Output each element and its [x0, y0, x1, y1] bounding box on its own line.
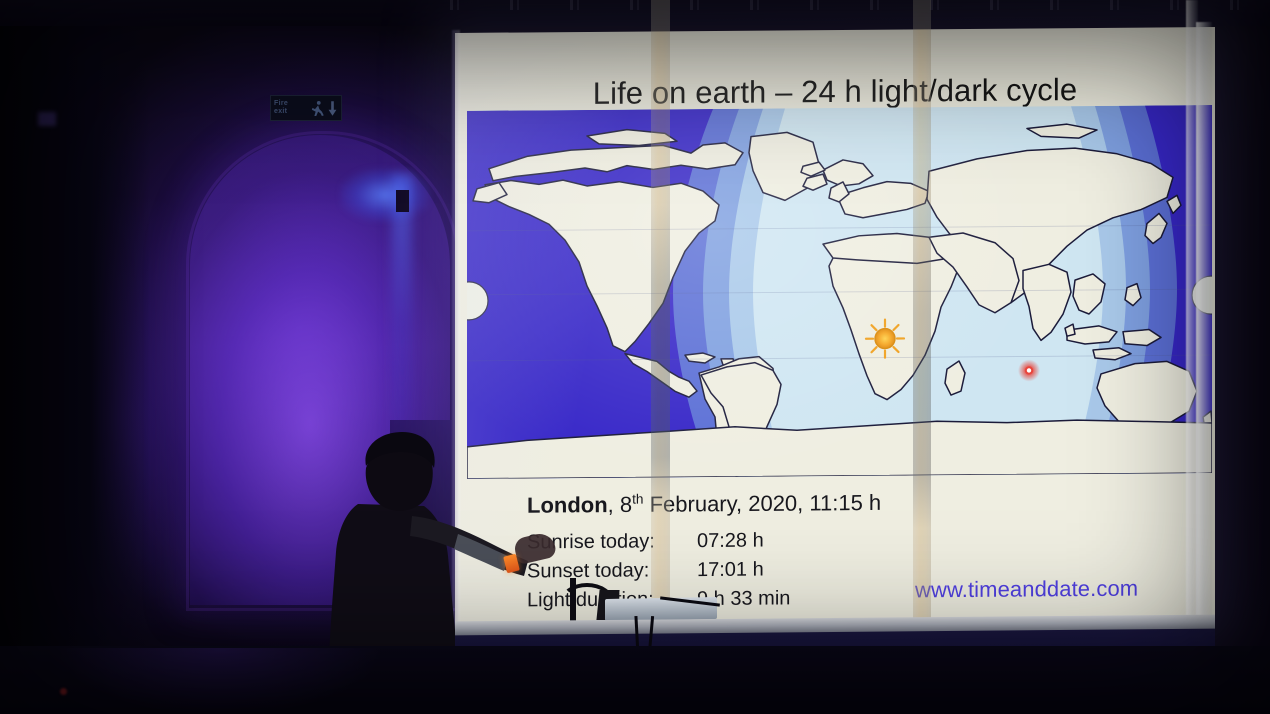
presentation-photo: Fire exit Life on earth – 24 h light/dar…: [0, 0, 1270, 714]
microphone-stand: [570, 578, 576, 622]
sun-icon: [866, 319, 904, 357]
fire-exit-line2: exit: [274, 108, 288, 116]
city-line-part2: February, 2020, 11:15 h: [643, 490, 881, 517]
fire-exit-label: Fire exit: [274, 100, 288, 116]
screen-right-edge: [1196, 22, 1212, 634]
slide: Life on earth – 24 h light/dark cycle: [455, 27, 1215, 631]
world-map-svg: [467, 105, 1212, 479]
sunrise-value: 07:28 h: [697, 530, 764, 554]
source-url: www.timeanddate.com: [915, 576, 1138, 604]
wall-speaker-box: [396, 190, 409, 212]
moon-red-dot-icon: [1018, 359, 1040, 381]
fire-exit-line1: Fire: [274, 100, 288, 108]
running-person-icon: [310, 100, 325, 117]
fire-exit-sign: Fire exit: [270, 95, 342, 121]
left-wall: [0, 0, 150, 714]
day-night-world-map: [467, 105, 1212, 479]
down-arrow-icon: [327, 100, 338, 117]
fire-exit-pictograms: [310, 100, 338, 117]
city-line-part1: , 8: [608, 492, 632, 517]
wall-light: [38, 112, 56, 126]
sunset-value: 17:01 h: [697, 559, 764, 583]
indicator-light: [60, 688, 67, 695]
city-datetime-line: London, 8th February, 2020, 11:15 h: [527, 487, 1167, 518]
blue-spotlight: [340, 168, 430, 222]
date-ordinal-suffix: th: [632, 492, 643, 507]
sunrise-row: Sunrise today: 07:28 h: [527, 527, 1167, 555]
projection-screen: Life on earth – 24 h light/dark cycle: [455, 27, 1215, 631]
floor-light-pool: [60, 648, 380, 714]
lighting-rig: [450, 0, 1270, 10]
